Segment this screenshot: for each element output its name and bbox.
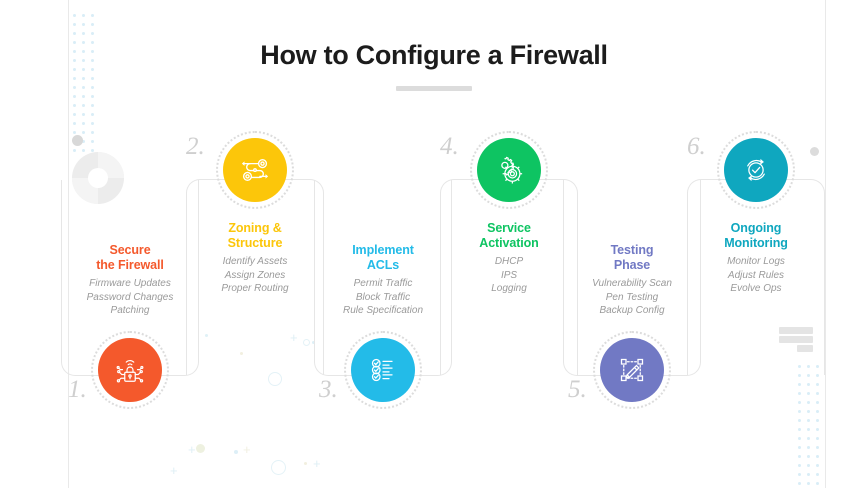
step-5-items: Vulnerability Scan Pen Testing Backup Co… bbox=[563, 277, 701, 318]
dot-grid-top-left bbox=[73, 14, 100, 152]
plus-decor-2: + bbox=[188, 443, 196, 456]
step-2-items: Identify Assets Assign Zones Proper Rout… bbox=[186, 255, 324, 296]
refresh-check-icon bbox=[738, 152, 774, 188]
padlock-circuit-icon bbox=[112, 352, 148, 388]
dot-grid-bottom-right bbox=[798, 365, 825, 485]
step-3-items: Permit Traffic Block Traffic Rule Specif… bbox=[314, 277, 452, 318]
step-6-number: 6. bbox=[687, 133, 706, 161]
step-2-badge[interactable] bbox=[223, 138, 287, 202]
step-6-badge[interactable] bbox=[724, 138, 788, 202]
gray-dot-left bbox=[72, 135, 83, 146]
mini-dot-3 bbox=[234, 450, 238, 454]
step-1-number: 1. bbox=[68, 376, 87, 404]
step-4-text: ServiceActivation DHCP IPS Logging bbox=[440, 221, 578, 296]
plus-decor-4: + bbox=[170, 464, 178, 477]
step-4-badge[interactable] bbox=[477, 138, 541, 202]
step-1-items: Firmware Updates Password Changes Patchi… bbox=[61, 277, 199, 318]
step-5-number: 5. bbox=[568, 376, 587, 404]
step-6-title: OngoingMonitoring bbox=[687, 221, 825, 251]
step-5-text: TestingPhase Vulnerability Scan Pen Test… bbox=[563, 243, 701, 318]
mini-dot-6 bbox=[304, 462, 307, 465]
step-6-text: OngoingMonitoring Monitor Logs Adjust Ru… bbox=[687, 221, 825, 296]
step-4-title: ServiceActivation bbox=[440, 221, 578, 251]
step-1-title: Securethe Firewall bbox=[61, 243, 199, 273]
step-4-items: DHCP IPS Logging bbox=[440, 255, 578, 296]
plus-decor-5: + bbox=[313, 457, 321, 470]
step-6-items: Monitor Logs Adjust Rules Evolve Ops bbox=[687, 255, 825, 296]
infographic-canvas: + + + + + How to Configure a Firewall Se… bbox=[0, 0, 868, 488]
network-topology-icon bbox=[237, 152, 273, 188]
step-5-badge[interactable] bbox=[600, 338, 664, 402]
step-3-number: 3. bbox=[319, 376, 338, 404]
step-2-title: Zoning &Structure bbox=[186, 221, 324, 251]
step-3-text: ImplementACLs Permit Traffic Block Traff… bbox=[314, 243, 452, 318]
checklist-icon bbox=[365, 352, 401, 388]
gray-dot-right bbox=[810, 147, 819, 156]
step-4-number: 4. bbox=[440, 133, 459, 161]
ring-decor-2 bbox=[271, 460, 286, 475]
step-1-text: Securethe Firewall Firmware Updates Pass… bbox=[61, 243, 199, 318]
gears-icon bbox=[491, 152, 527, 188]
page-title: How to Configure a Firewall bbox=[0, 40, 868, 71]
step-5-title: TestingPhase bbox=[563, 243, 701, 273]
step-1-badge[interactable] bbox=[98, 338, 162, 402]
step-2-text: Zoning &Structure Identify Assets Assign… bbox=[186, 221, 324, 296]
test-pencil-scan-icon bbox=[614, 352, 650, 388]
plus-decor-3: + bbox=[243, 443, 251, 456]
right-guide-line bbox=[825, 0, 826, 488]
mini-dot-4 bbox=[196, 444, 205, 453]
title-underline bbox=[396, 86, 472, 91]
step-3-title: ImplementACLs bbox=[314, 243, 452, 273]
step-2-number: 2. bbox=[186, 133, 205, 161]
step-3-badge[interactable] bbox=[351, 338, 415, 402]
